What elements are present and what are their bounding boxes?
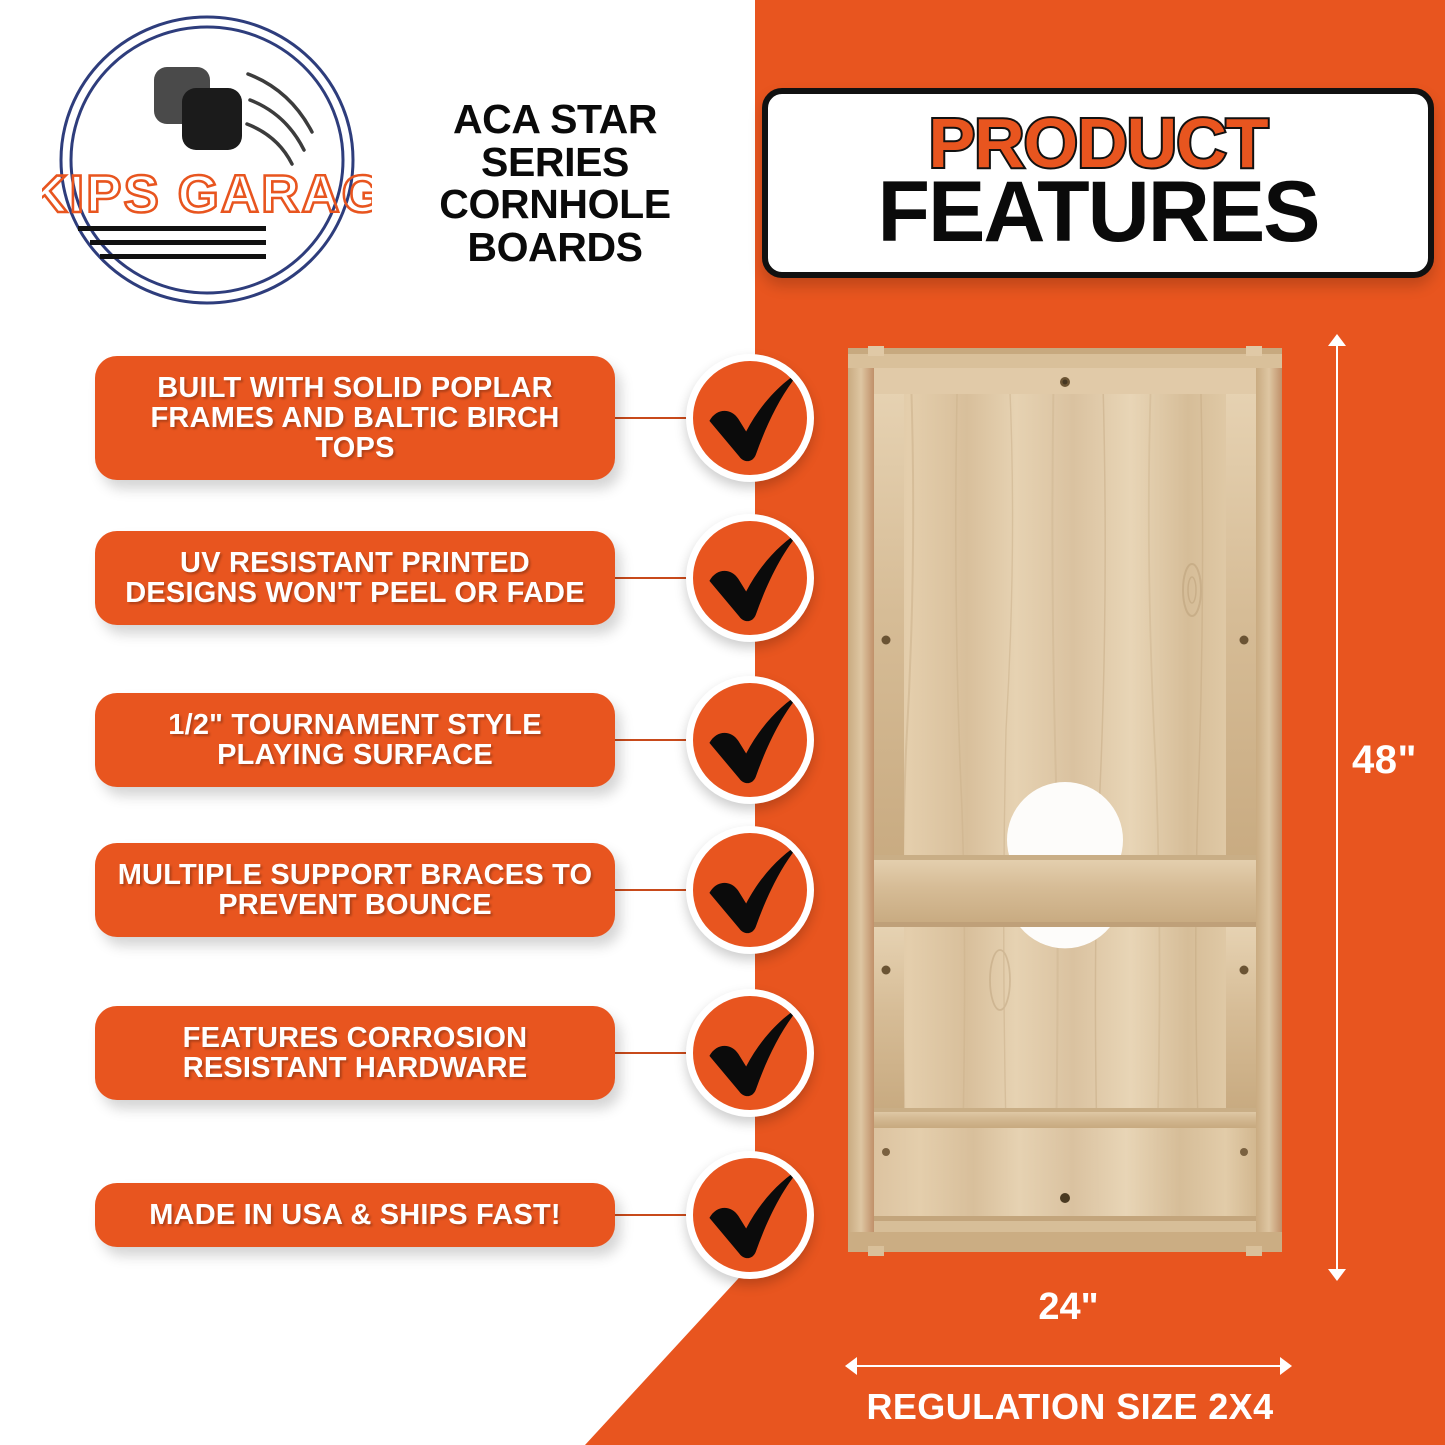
header-line-features: FEATURES: [877, 172, 1318, 253]
check-icon: [693, 519, 807, 637]
title-line-2: SERIES: [390, 141, 720, 184]
feature-check-circle-hardware: [686, 989, 814, 1117]
feature-label: UV RESISTANT PRINTED DESIGNS WON'T PEEL …: [125, 547, 585, 609]
feature-connector-frames: [612, 417, 692, 419]
feature-label: 1/2" TOURNAMENT STYLE PLAYING SURFACE: [168, 709, 542, 771]
regulation-size-label: REGULATION SIZE 2X4: [830, 1386, 1310, 1428]
arrow-right-icon: [1280, 1357, 1292, 1375]
infographic-page: SKIPS GARAGE ACA STARSERIESCORNHOLEBOARD…: [0, 0, 1445, 1445]
check-icon: [693, 681, 807, 799]
width-dimension-line: [856, 1365, 1281, 1367]
arrow-up-icon: [1328, 334, 1346, 346]
height-dimension-line: [1336, 345, 1338, 1270]
feature-pill-uv[interactable]: UV RESISTANT PRINTED DESIGNS WON'T PEEL …: [95, 531, 615, 625]
feature-connector-braces: [612, 889, 692, 891]
logo-wordmark: SKIPS GARAGE: [42, 165, 372, 224]
page-title: ACA STARSERIESCORNHOLEBOARDS: [390, 98, 720, 269]
feature-pill-hardware[interactable]: FEATURES CORROSION RESISTANT HARDWARE: [95, 1006, 615, 1100]
feature-check-circle-usa: [686, 1151, 814, 1279]
logo-graphic: SKIPS GARAGE: [42, 12, 372, 312]
feature-check-circle-braces: [686, 826, 814, 954]
feature-pill-surface[interactable]: 1/2" TOURNAMENT STYLE PLAYING SURFACE: [95, 693, 615, 787]
check-icon: [693, 831, 807, 949]
feature-pill-usa[interactable]: MADE IN USA & SHIPS FAST!: [95, 1183, 615, 1247]
feature-label: MADE IN USA & SHIPS FAST!: [149, 1199, 561, 1231]
feature-connector-uv: [612, 577, 692, 579]
feature-label: FEATURES CORROSION RESISTANT HARDWARE: [183, 1022, 528, 1084]
check-icon: [693, 994, 807, 1112]
feature-pill-braces[interactable]: MULTIPLE SUPPORT BRACES TO PREVENT BOUNC…: [95, 843, 615, 937]
feature-connector-usa: [612, 1214, 692, 1216]
arrow-left-icon: [845, 1357, 857, 1375]
board-graphic: [840, 340, 1290, 1265]
title-line-3: CORNHOLE: [390, 183, 720, 226]
check-icon: [693, 1156, 807, 1274]
title-line-4: BOARDS: [390, 226, 720, 269]
feature-label: MULTIPLE SUPPORT BRACES TO PREVENT BOUNC…: [118, 859, 593, 921]
feature-connector-surface: [612, 739, 692, 741]
feature-connector-hardware: [612, 1052, 692, 1054]
product-features-header: PRODUCT FEATURES: [762, 88, 1434, 278]
arrow-down-icon: [1328, 1269, 1346, 1281]
feature-check-circle-frames: [686, 354, 814, 482]
check-icon: [693, 359, 807, 477]
title-text: ACA STARSERIESCORNHOLEBOARDS: [390, 98, 720, 269]
feature-check-circle-surface: [686, 676, 814, 804]
width-dimension-label: 24": [856, 1286, 1281, 1329]
cornhole-board-image: [840, 340, 1290, 1265]
brand-logo: SKIPS GARAGE: [42, 12, 372, 312]
orange-diagonal-wedge: [585, 1255, 760, 1445]
feature-label: BUILT WITH SOLID POPLAR FRAMES AND BALTI…: [151, 372, 560, 464]
height-dimension-label: 48": [1352, 738, 1417, 783]
feature-pill-frames[interactable]: BUILT WITH SOLID POPLAR FRAMES AND BALTI…: [95, 356, 615, 480]
title-line-1: ACA STAR: [390, 98, 720, 141]
feature-check-circle-uv: [686, 514, 814, 642]
